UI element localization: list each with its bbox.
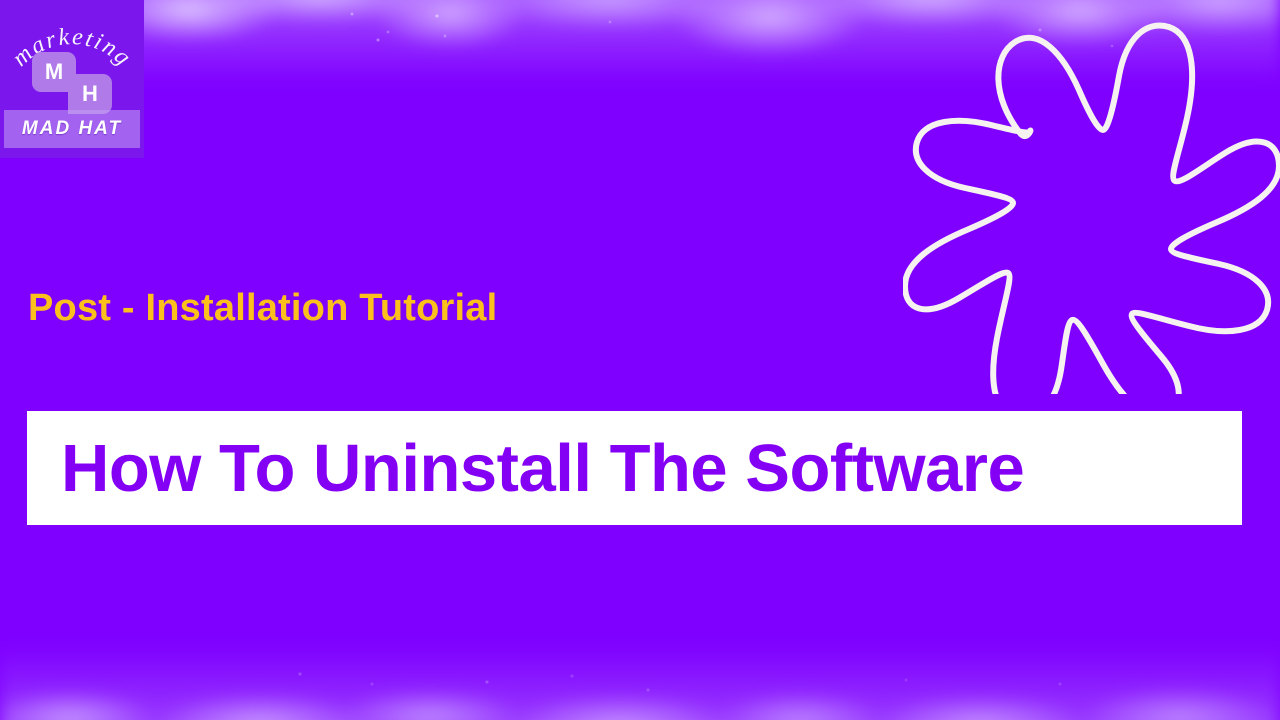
page-title: How To Uninstall The Software — [61, 435, 1024, 502]
cloud-texture-top-icon — [0, 0, 1280, 102]
headline-banner: How To Uninstall The Software — [27, 411, 1242, 525]
logo-badge-label: MAD HAT — [22, 118, 122, 140]
sparkle-bottom-icon — [0, 640, 1280, 720]
slide-canvas: marketing M H MAD HAT Post - Installatio… — [0, 0, 1280, 720]
flower-splat-outline-icon — [903, 18, 1280, 394]
sparkle-top-icon — [0, 0, 1280, 70]
logo-badge: MAD HAT — [4, 110, 140, 148]
brand-logo: marketing M H MAD HAT — [0, 0, 144, 158]
kicker-text: Post - Installation Tutorial — [28, 287, 497, 330]
logo-tile-h: H — [68, 74, 112, 114]
logo-monogram-tiles: M H — [32, 52, 112, 112]
cloud-texture-bottom-icon — [0, 632, 1280, 720]
